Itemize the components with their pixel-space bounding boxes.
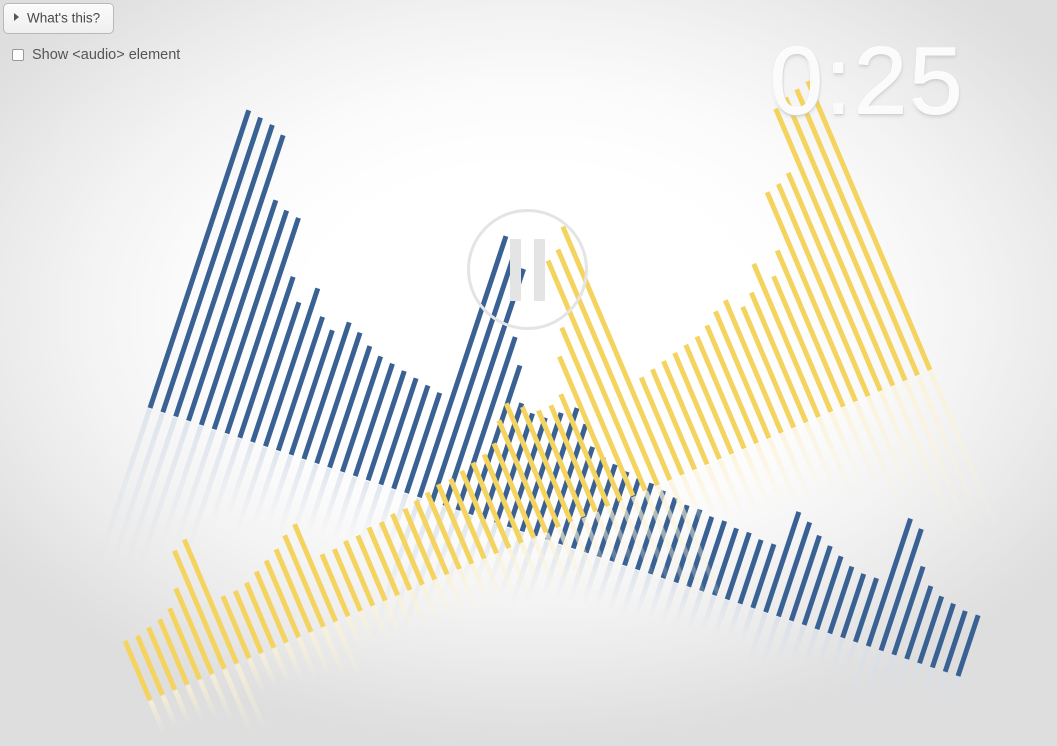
spectrum-bar xyxy=(904,585,933,659)
spectrum-bar-reflection xyxy=(160,695,178,729)
spectrum-bar-reflection xyxy=(879,391,934,513)
spectrum-bar xyxy=(571,456,606,549)
spectrum-bar-reflection xyxy=(486,527,511,589)
spectrum-bar xyxy=(212,210,289,430)
spectrum-bar-reflection xyxy=(251,451,280,526)
spectrum-bar xyxy=(292,523,338,622)
spectrum-bar-reflection xyxy=(460,519,486,584)
spectrum-bar-reflection xyxy=(828,638,844,675)
spectrum-bar-reflection xyxy=(745,612,768,669)
spectrum-reflections-yellow xyxy=(148,370,1000,735)
visualizer-stage: 0:25 What's this? Show <audio> element xyxy=(0,0,1057,746)
spectrum-bar xyxy=(635,490,666,571)
spectrum-bar-reflection xyxy=(554,549,575,601)
spectrum-bar xyxy=(879,528,924,651)
spectrum-bar xyxy=(468,365,522,515)
spectrum-bar-reflection xyxy=(726,604,742,641)
spectrum-bar xyxy=(157,618,189,685)
spectrum-bar xyxy=(282,534,325,627)
spectrum-bar xyxy=(775,249,846,407)
spectrum-bar xyxy=(520,412,564,532)
spectrum-bar xyxy=(356,535,388,602)
spectrum-bar xyxy=(738,539,764,604)
spectrum-bar xyxy=(650,368,697,470)
spectrum-bar-reflection xyxy=(334,621,361,676)
triangle-right-icon xyxy=(14,13,19,21)
spectrum-bar-reflection xyxy=(631,496,675,590)
spectrum-bar-reflection xyxy=(817,417,857,503)
spectrum-bar-reflection xyxy=(319,472,345,537)
spectrum-bar-reflection xyxy=(594,561,614,608)
play-pause-button[interactable] xyxy=(467,209,588,330)
spectrum-bar-reflection xyxy=(185,684,205,722)
spectrum-series-yellow xyxy=(123,80,933,701)
spectrum-bar-reflection xyxy=(321,627,347,679)
spectrum-bar xyxy=(199,199,278,425)
spectrum-bar xyxy=(492,442,537,538)
spectrum-bar xyxy=(504,402,561,528)
spectrum-reflections-blue xyxy=(93,408,960,719)
spectrum-bar-reflection xyxy=(284,642,305,683)
spectrum-bar-reflection xyxy=(928,370,1000,531)
spectrum-bar-reflection xyxy=(668,480,732,621)
spectrum-bar-reflection xyxy=(944,676,960,711)
spectrum-bar xyxy=(853,577,879,642)
spectrum-bar xyxy=(827,566,854,634)
spectrum-bar xyxy=(704,324,758,444)
spectrum-bar-reflection xyxy=(290,463,319,536)
spectrum-bar-reflection xyxy=(660,583,678,625)
spectrum-bar xyxy=(448,478,486,560)
spectrum-bar xyxy=(773,108,895,387)
spectrum-bar xyxy=(520,406,573,523)
spectrum-bar-reflection xyxy=(532,538,559,592)
spectrum-bar-reflection xyxy=(699,595,716,633)
spectrum-bar-reflection xyxy=(619,501,657,582)
spectrum-bar xyxy=(765,191,858,402)
spectrum-bar xyxy=(597,471,630,558)
spectrum-bar xyxy=(789,535,822,622)
spectrum-bar xyxy=(891,566,925,656)
spectrum-bar xyxy=(233,590,264,654)
spectrum-bar-reflection xyxy=(507,548,531,597)
spectrum-bar xyxy=(459,470,499,554)
spectrum-bar xyxy=(672,352,721,460)
spectrum-bar-reflection xyxy=(93,408,152,573)
spectrum-bar-reflection xyxy=(495,553,519,600)
spectrum-bar-reflection xyxy=(773,621,793,669)
spectrum-bar-reflection xyxy=(276,459,306,536)
spectrum-bar xyxy=(545,424,588,541)
spectrum-bar xyxy=(276,316,325,451)
spectrum-bar xyxy=(648,497,678,575)
whats-this-disclosure[interactable]: What's this? xyxy=(3,3,114,34)
spectrum-bar xyxy=(123,640,153,701)
spectrum-bar xyxy=(302,322,352,460)
spectrum-bar-reflection xyxy=(433,579,454,620)
spectrum-bar-reflection xyxy=(424,510,460,607)
spectrum-bar-reflection xyxy=(224,442,254,520)
spectrum-bar xyxy=(379,521,412,591)
spectrum-bar xyxy=(661,360,709,465)
spectrum-bar xyxy=(367,526,400,596)
spectrum-bar-reflection xyxy=(385,502,434,637)
spectrum-bar xyxy=(343,540,375,607)
spectrum-bar xyxy=(221,595,252,659)
spectrum-bar xyxy=(558,393,610,507)
spectrum-bar-reflection xyxy=(841,642,857,679)
spectrum-bar xyxy=(390,513,425,586)
show-audio-element-row[interactable]: Show <audio> element xyxy=(3,47,180,63)
spectrum-series-blue xyxy=(148,110,981,677)
spectrum-bar-reflection xyxy=(829,412,865,489)
spectrum-bar-reflection xyxy=(458,569,480,613)
spectrum-bar xyxy=(146,627,177,691)
spectrum-bar xyxy=(353,363,395,477)
spectrum-bar-reflection xyxy=(854,401,907,518)
spectrum-bar-reflection xyxy=(787,625,806,670)
spectrum-bar-reflection xyxy=(332,476,357,539)
spectrum-bar-reflection xyxy=(767,438,801,510)
spectrum-bar xyxy=(225,217,301,434)
spectrum-bar xyxy=(482,453,524,543)
spectrum-bar xyxy=(815,556,844,630)
spectrum-bar-reflection xyxy=(359,611,378,647)
spectrum-bar-reflection xyxy=(305,468,332,536)
spectrum-bar-reflection xyxy=(730,454,760,516)
spectrum-bar-reflection xyxy=(594,511,623,571)
spectrum-bar xyxy=(497,419,549,533)
spectrum-bar xyxy=(172,550,226,670)
spectrum-bar-reflection xyxy=(620,570,639,615)
spectrum-bar-reflection xyxy=(634,574,653,617)
spectrum-bar-reflection xyxy=(804,422,839,495)
spectrum-bar-reflection xyxy=(222,669,254,736)
spectrum-bar xyxy=(695,336,747,450)
spectrum-bar xyxy=(750,543,776,608)
spectrum-bar-reflection xyxy=(445,574,467,616)
spectrum-bar xyxy=(639,377,685,476)
spectrum-bar xyxy=(943,610,968,672)
spectrum-bar-reflection xyxy=(544,532,575,596)
spectrum-bar-reflection xyxy=(345,480,370,542)
spectrum-bar xyxy=(507,417,548,528)
spectrum-bar-reflection xyxy=(371,606,391,644)
spectrum-bar-reflection xyxy=(172,429,217,551)
spectrum-bar xyxy=(771,275,833,413)
spectrum-bar xyxy=(532,407,579,536)
spectrum-bar xyxy=(332,548,363,612)
spectrum-bar xyxy=(327,345,372,468)
spectrum-bar-reflection xyxy=(891,659,909,701)
spectrum-bar-reflection xyxy=(383,600,403,638)
spectrum-bar xyxy=(763,511,801,613)
spectrum-bar-reflection xyxy=(759,617,781,670)
spectrum-bar xyxy=(930,603,956,668)
spectrum-bar-reflection xyxy=(173,689,192,725)
spectrum-bar xyxy=(471,462,512,549)
spectrum-bar-reflection xyxy=(470,564,493,610)
spectrum-bar xyxy=(254,571,289,644)
spectrum-bar xyxy=(182,539,239,665)
spectrum-bar-reflection xyxy=(210,674,234,723)
spectrum-bar xyxy=(414,500,450,576)
spectrum-bar-reflection xyxy=(148,700,166,734)
spectrum-bar-reflection xyxy=(235,663,268,733)
spectrum-bar-reflection xyxy=(346,616,365,652)
spectrum-bar-reflection xyxy=(234,446,268,534)
spectrum-bar-reflection xyxy=(755,443,787,510)
spectrum-bar-reflection xyxy=(198,679,219,720)
spectrum-bar xyxy=(404,392,442,494)
spectrum-bar xyxy=(683,344,734,455)
spectrum-bar xyxy=(425,491,462,570)
spectrum-bar-reflection xyxy=(841,407,882,495)
spectrum-bar xyxy=(956,614,981,676)
spectrum-bar xyxy=(559,327,635,497)
spectrum-bar xyxy=(776,183,870,397)
spectrum-bar xyxy=(314,332,362,464)
spectrum-bar xyxy=(557,356,623,502)
spectrum-bar-reflection xyxy=(106,412,164,576)
spectrum-bar xyxy=(751,263,820,418)
spectrum-bar-reflection xyxy=(134,421,191,580)
spectrum-bar-reflection xyxy=(792,428,825,496)
spectrum-bar xyxy=(366,370,407,481)
spectrum-bar-reflection xyxy=(866,396,920,515)
spectrum-bar-reflection xyxy=(569,522,600,587)
spectrum-bar xyxy=(173,124,274,417)
spectrum-bar-reflection xyxy=(540,544,562,599)
checkbox-unchecked-icon[interactable] xyxy=(12,49,24,61)
spectrum-bar-reflection xyxy=(567,553,588,603)
spectrum-bar xyxy=(740,306,796,429)
pause-icon-bar-left xyxy=(510,239,521,301)
spectrum-bar-reflection xyxy=(693,469,721,526)
spectrum-bar xyxy=(712,528,739,596)
spectrum-bar xyxy=(436,483,474,565)
spectrum-bar-reflection xyxy=(272,648,292,686)
spectrum-bar xyxy=(340,356,383,473)
spectrum-bar xyxy=(289,329,335,455)
spectrum-bar-reflection xyxy=(498,532,524,599)
spectrum-bar xyxy=(622,483,654,567)
spectrum-bar-reflection xyxy=(712,600,729,638)
spectrum-bar-reflection xyxy=(309,632,333,679)
spectrum-bar-reflection xyxy=(875,655,896,705)
spectrum-bar xyxy=(391,385,430,490)
spectrum-bar-reflection xyxy=(369,497,421,642)
spectrum-bar-reflection xyxy=(581,517,610,577)
spectrum-bar xyxy=(274,548,314,632)
spectrum-bar xyxy=(455,336,517,511)
spectrum-bar-reflection xyxy=(738,608,754,645)
spectrum-bar-reflection xyxy=(396,595,416,634)
spectrum-bar xyxy=(378,377,418,485)
spectrum-bar-reflection xyxy=(520,543,545,594)
spectrum-bar xyxy=(320,553,351,617)
spectrum-bar xyxy=(494,413,535,524)
spectrum-bar-reflection xyxy=(815,634,832,672)
spectrum-bar-reflection xyxy=(399,506,447,638)
spectrum-bar xyxy=(173,587,214,674)
whats-this-label: What's this? xyxy=(27,10,100,25)
spectrum-bar xyxy=(250,302,301,443)
spectrum-bar xyxy=(167,607,202,680)
spectrum-bar xyxy=(661,504,690,578)
spectrum-bar xyxy=(609,478,641,562)
spectrum-bar-reflection xyxy=(606,506,637,570)
spectrum-bar-reflection xyxy=(686,591,703,631)
spectrum-bar xyxy=(840,573,866,638)
spectrum-bar-reflection xyxy=(247,658,266,694)
spectrum-bar xyxy=(558,446,595,545)
spectrum-bar-reflection xyxy=(266,455,293,525)
spectrum-bar xyxy=(264,560,301,639)
spectrum-bar-reflection xyxy=(185,434,229,554)
spectrum-bar xyxy=(536,410,585,518)
spectrum-bar xyxy=(135,635,165,696)
spectrum-bar-reflection xyxy=(297,637,319,681)
controls-panel: What's this? Show <audio> element xyxy=(0,0,180,63)
spectrum-bar-reflection xyxy=(718,459,747,519)
spectrum-bar xyxy=(186,134,285,421)
spectrum-bar xyxy=(783,97,907,382)
spectrum-bar-reflection xyxy=(359,485,383,545)
spectrum-bar xyxy=(148,110,251,409)
spectrum-bar-reflection xyxy=(581,557,601,605)
spectrum-bar-reflection xyxy=(891,386,960,540)
spectrum-bar-reflection xyxy=(931,672,947,707)
spectrum-bar xyxy=(749,292,808,424)
pause-icon-bar-right xyxy=(534,239,545,301)
spectrum-bar-reflection xyxy=(780,433,815,508)
spectrum-bar-reflection xyxy=(120,417,178,579)
spectrum-bar-reflection xyxy=(372,489,396,547)
spectrum-bar xyxy=(673,509,702,583)
spectrum-bar xyxy=(263,288,320,448)
show-audio-element-label: Show <audio> element xyxy=(32,47,180,63)
spectrum-bar xyxy=(686,516,714,587)
spectrum-bar-reflection xyxy=(557,527,590,597)
spectrum-bar-reflection xyxy=(607,566,627,613)
spectrum-bar xyxy=(244,582,276,649)
spectrum-bar xyxy=(866,518,913,647)
spectrum-bar xyxy=(481,402,524,519)
spectrum-bar xyxy=(917,596,944,664)
spectrum-bar-reflection xyxy=(260,653,279,689)
spectrum-bar xyxy=(403,508,438,581)
spectrum-bar xyxy=(549,404,598,512)
spectrum-bar xyxy=(786,172,883,392)
spectrum-bar xyxy=(802,545,833,626)
spectrum-bar-reflection xyxy=(680,475,707,530)
spectrum-bar-reflection xyxy=(842,646,870,718)
spectrum-bar xyxy=(723,299,784,434)
spectrum-bar xyxy=(160,117,262,413)
spectrum-bar-reflection xyxy=(643,490,701,618)
spectrum-bar-reflection xyxy=(509,536,537,608)
spectrum-bar-reflection xyxy=(705,464,734,523)
playback-timer: 0:25 xyxy=(770,34,965,130)
spectrum-bar-reflection xyxy=(386,493,409,550)
spectrum-bar-reflection xyxy=(208,438,242,528)
spectrum-bar-reflection xyxy=(856,651,883,719)
spectrum-bar-reflection xyxy=(647,578,665,620)
spectrum-bar xyxy=(584,464,618,554)
spectrum-bar-reflection xyxy=(673,587,690,627)
spectrum-bar xyxy=(713,310,771,439)
spectrum-bar-reflection xyxy=(420,585,441,626)
spectrum-bar-reflection xyxy=(742,449,773,513)
spectrum-bar-reflection xyxy=(656,485,715,617)
spectrum-bar xyxy=(776,521,812,617)
spectrum-bar-reflection xyxy=(441,515,473,598)
spectrum-bar-reflection xyxy=(905,663,922,701)
spectrum-bar xyxy=(237,276,295,439)
spectrum-bar-reflection xyxy=(801,629,819,671)
spectrum-bar-reflection xyxy=(482,559,505,605)
spectrum-bar-reflection xyxy=(918,668,934,705)
spectrum-bar-reflection xyxy=(916,375,987,534)
spectrum-bar xyxy=(699,520,727,591)
spectrum-bar-reflection xyxy=(903,380,973,538)
spectrum-bar-reflection xyxy=(158,425,204,550)
spectrum-bar-reflection xyxy=(474,523,499,585)
spectrum-bar-reflection xyxy=(524,540,550,605)
spectrum-bar-reflection xyxy=(408,590,428,629)
spectrum-bar xyxy=(725,532,752,600)
